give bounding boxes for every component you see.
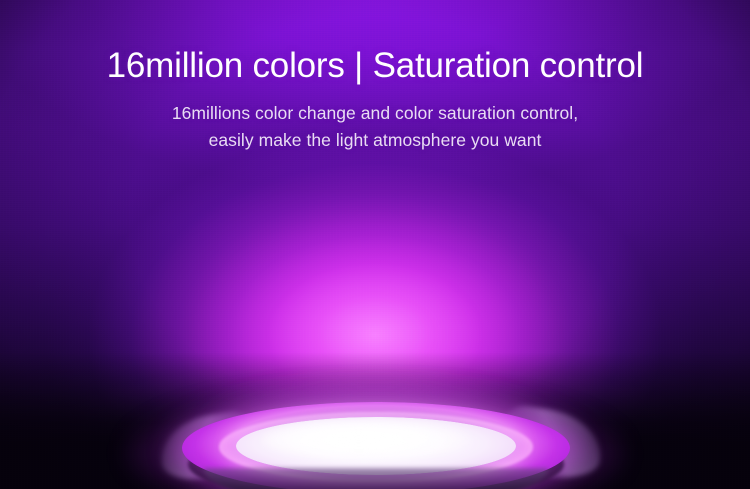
fixture-specular-hotspot [262,420,472,460]
product-banner: 16million colors | Saturation control 16… [0,0,750,489]
banner-text-block: 16million colors | Saturation control 16… [0,44,750,154]
page-title: 16million colors | Saturation control [0,44,750,88]
banner-subtitle-line-2: easily make the light atmosphere you wan… [0,127,750,154]
led-downlight-fixture [0,386,750,489]
banner-subtitle-line-1: 16millions color change and color satura… [0,100,750,127]
banner-subtitle: 16millions color change and color satura… [0,100,750,154]
fixture-underside-shadow [204,468,548,489]
